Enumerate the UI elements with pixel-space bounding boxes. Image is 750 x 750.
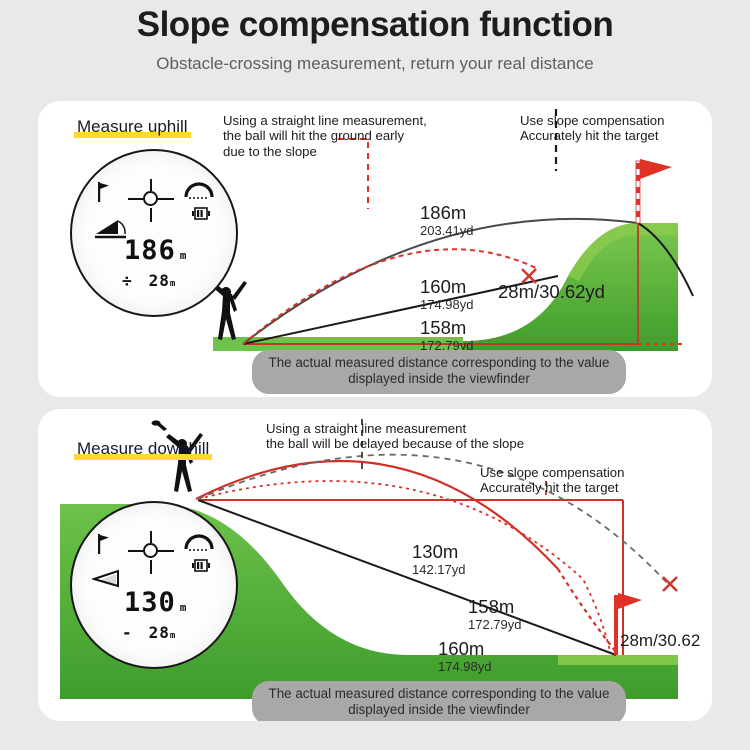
green-highlight xyxy=(558,655,678,665)
viewfinder-slope-value-downhill: -28m xyxy=(122,623,176,642)
page-title: Slope compensation function xyxy=(0,6,750,45)
page-header: Slope compensation function Obstacle-cro… xyxy=(0,0,750,74)
uphill-note-right: Use slope compensation Accurately hit th… xyxy=(520,113,712,144)
rangefinder-viewfinder-uphill: 186m ÷28m xyxy=(70,149,238,317)
downhill-caption: The actual measured distance correspondi… xyxy=(252,681,626,721)
panel-measure-uphill: Measure uphill Using a straight line mea… xyxy=(38,101,712,397)
label-158m: 158m 172.79yd xyxy=(420,317,474,353)
uphill-caption: The actual measured distance correspondi… xyxy=(252,350,626,394)
arc-icon xyxy=(184,533,214,551)
viewfinder-slope-value-uphill: ÷28m xyxy=(122,271,176,290)
flag-icon xyxy=(636,159,672,223)
uphill-title: Measure uphill xyxy=(74,117,191,138)
flag-icon xyxy=(96,533,112,555)
label-130m: 130m 142.17yd xyxy=(412,541,466,577)
page-subtitle: Obstacle-crossing measurement, return yo… xyxy=(0,54,750,74)
label-186m: 186m 203.41yd xyxy=(420,202,474,238)
downhill-note-left: Using a straight line measurement the ba… xyxy=(266,421,566,452)
viewfinder-main-value-downhill: 130m xyxy=(124,587,187,618)
battery-icon xyxy=(192,207,210,220)
arc-icon xyxy=(184,181,214,199)
battery-icon xyxy=(192,559,210,572)
rangefinder-viewfinder-downhill: 130m -28m xyxy=(70,501,238,669)
miss-x-icon xyxy=(663,577,677,591)
panel-measure-downhill: Measure downhill Using a straight line m… xyxy=(38,409,712,721)
label-158m: 158m 172.79yd xyxy=(468,596,522,632)
trajectory-short-dashed xyxy=(243,249,538,344)
label-compensation-downhill: 28m/30.62 xyxy=(620,631,700,651)
slope-down-icon xyxy=(92,569,126,591)
crosshair-icon xyxy=(128,539,174,563)
viewfinder-main-value-uphill: 186m xyxy=(124,235,187,266)
uphill-note-left: Using a straight line measurement, the b… xyxy=(223,113,453,159)
crosshair-icon xyxy=(128,187,174,211)
label-160m: 160m 174.98yd xyxy=(438,638,492,674)
slope-up-icon xyxy=(94,217,128,239)
label-160m: 160m 174.98yd xyxy=(420,276,474,312)
downhill-note-right: Use slope compensation Accurately hit th… xyxy=(480,465,690,496)
downhill-title: Measure downhill xyxy=(74,439,212,460)
label-compensation-uphill: 28m/30.62yd xyxy=(498,281,605,303)
flag-icon xyxy=(96,181,112,203)
